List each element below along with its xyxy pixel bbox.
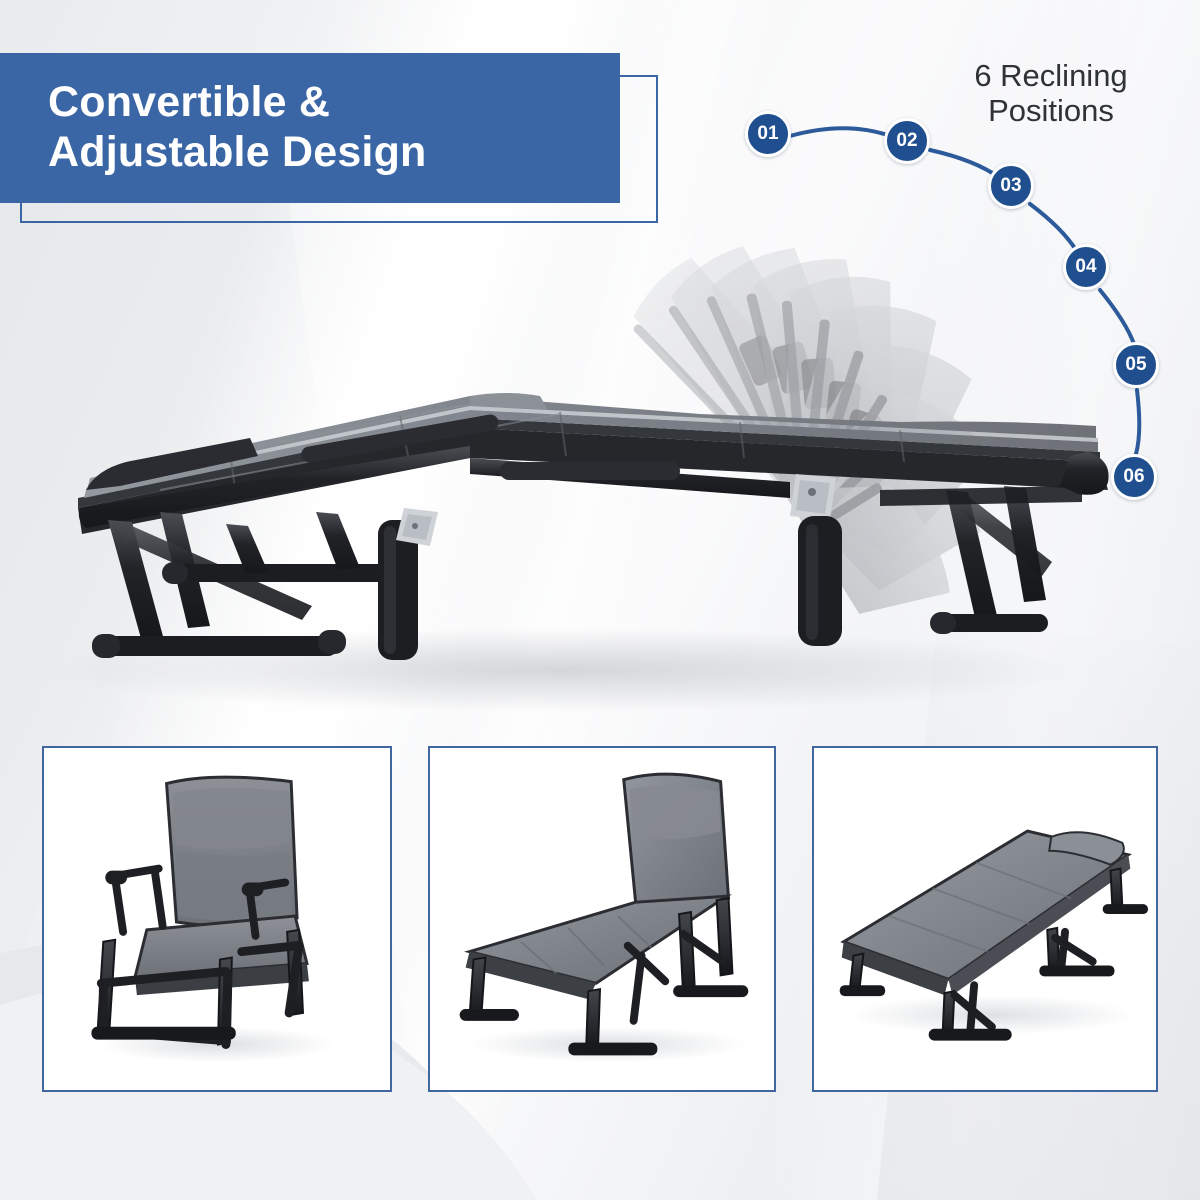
card-single-bed[interactable]: Single Bed bbox=[812, 746, 1158, 1092]
card-sofa-chair[interactable]: Sofa Chair bbox=[42, 746, 392, 1092]
connector-arc-05-06 bbox=[1136, 390, 1139, 454]
position-badge-03[interactable]: 03 bbox=[988, 163, 1034, 209]
single-bed-photo bbox=[814, 748, 1156, 1090]
connector-arc-04-05 bbox=[1100, 290, 1134, 344]
position-badge-05[interactable]: 05 bbox=[1113, 342, 1159, 388]
card-chaise-lounge[interactable]: Chaise Lounge bbox=[428, 746, 776, 1092]
infographic-page: Convertible & Adjustable Design 6 Reclin… bbox=[0, 0, 1200, 1200]
sofa-chair-photo bbox=[44, 748, 390, 1090]
configuration-cards: Sofa Chair bbox=[0, 746, 1200, 1186]
position-badge-01[interactable]: 01 bbox=[745, 111, 791, 157]
position-badge-02[interactable]: 02 bbox=[884, 118, 930, 164]
position-badge-06[interactable]: 06 bbox=[1111, 454, 1157, 500]
connector-arc-03-04 bbox=[1030, 204, 1076, 250]
position-badge-04[interactable]: 04 bbox=[1063, 244, 1109, 290]
connector-arc-02-03 bbox=[930, 150, 1000, 178]
chaise-lounge-photo bbox=[430, 748, 774, 1090]
reclining-positions-indicator: 01 02 03 04 05 06 bbox=[0, 0, 1200, 760]
